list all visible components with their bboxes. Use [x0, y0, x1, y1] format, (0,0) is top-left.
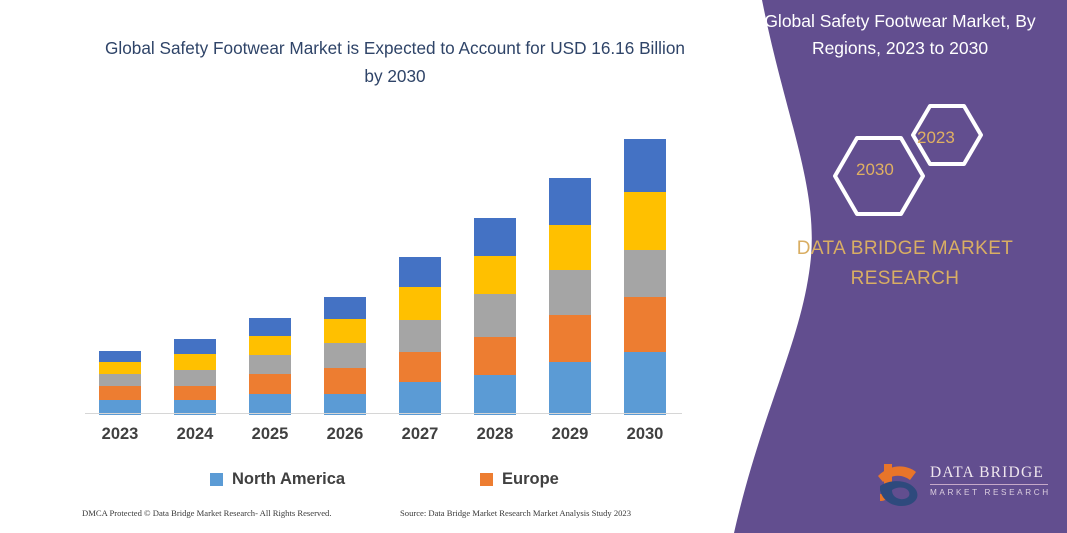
- x-axis-line: [85, 413, 682, 414]
- bar-segment: [474, 256, 516, 294]
- x-axis-label: 2028: [460, 425, 530, 444]
- stacked-bar: [99, 351, 141, 415]
- bar-segment: [249, 394, 291, 415]
- bar-segment: [549, 315, 591, 362]
- bar-column: [460, 112, 530, 415]
- logo-divider: [930, 484, 1048, 485]
- bar-segment: [474, 218, 516, 256]
- bar-segment: [174, 354, 216, 370]
- chart-title: Global Safety Footwear Market is Expecte…: [100, 34, 690, 90]
- hexagon-outlines-icon: [820, 100, 1020, 220]
- bar-column: [160, 112, 230, 415]
- bar-segment: [624, 192, 666, 250]
- x-axis-label: 2030: [610, 425, 680, 444]
- chart-plot-area: [85, 110, 685, 415]
- bar-segment: [249, 355, 291, 374]
- legend-item[interactable]: North America: [210, 470, 345, 489]
- bar-segment: [549, 178, 591, 225]
- bar-segment: [399, 352, 441, 382]
- bar-segment: [624, 250, 666, 297]
- bar-segment: [99, 374, 141, 386]
- bar-segment: [99, 351, 141, 362]
- bar-segment: [549, 270, 591, 315]
- bar-segment: [474, 337, 516, 375]
- stacked-bar: [174, 339, 216, 415]
- x-axis-labels: 20232024202520262027202820292030: [85, 425, 685, 449]
- bar-segment: [624, 139, 666, 192]
- data-bridge-logo: DATA BRIDGE MARKET RESEARCH: [872, 458, 1052, 514]
- x-axis-label: 2029: [535, 425, 605, 444]
- legend-label: Europe: [502, 470, 559, 489]
- bar-column: [85, 112, 155, 415]
- bar-segment: [399, 287, 441, 320]
- bar-column: [310, 112, 380, 415]
- logo-line-2: MARKET RESEARCH: [930, 488, 1051, 497]
- stacked-bar: [624, 139, 666, 415]
- bar-segment: [174, 339, 216, 354]
- bar-segment: [624, 297, 666, 352]
- infographic-root: Global Safety Footwear Market, By Region…: [0, 0, 1067, 533]
- legend-swatch: [480, 473, 493, 486]
- chart-legend: North AmericaEurope: [85, 470, 685, 494]
- bar-segment: [399, 320, 441, 352]
- bar-segment: [249, 336, 291, 355]
- hexagon-badges: 2030 2023: [820, 100, 1020, 220]
- brand-name: DATA BRIDGE MARKET RESEARCH: [775, 234, 1035, 294]
- legend-label: North America: [232, 470, 345, 489]
- legend-item[interactable]: Europe: [480, 470, 559, 489]
- bar-segment: [174, 386, 216, 400]
- panel-title: Global Safety Footwear Market, By Region…: [750, 8, 1050, 62]
- footer-source: Source: Data Bridge Market Research Mark…: [400, 508, 631, 518]
- stacked-bar: [249, 318, 291, 415]
- x-axis-label: 2023: [85, 425, 155, 444]
- legend-swatch: [210, 473, 223, 486]
- stacked-bar: [474, 218, 516, 415]
- bar-segment: [99, 362, 141, 374]
- hexagon-2023-label: 2023: [917, 128, 955, 148]
- x-axis-label: 2024: [160, 425, 230, 444]
- bar-segment: [99, 386, 141, 400]
- db-monogram-icon: [872, 458, 928, 510]
- bar-column: [610, 112, 680, 415]
- bar-segment: [174, 370, 216, 386]
- x-axis-label: 2026: [310, 425, 380, 444]
- bar-segment: [324, 319, 366, 343]
- stacked-bar: [399, 257, 441, 415]
- bar-column: [235, 112, 305, 415]
- bar-segment: [624, 352, 666, 415]
- bar-segment: [324, 394, 366, 415]
- stacked-bar: [324, 297, 366, 415]
- logo-line-1: DATA BRIDGE: [930, 464, 1051, 482]
- logo-wordmark: DATA BRIDGE MARKET RESEARCH: [930, 464, 1051, 497]
- bar-segment: [249, 318, 291, 336]
- x-axis-label: 2027: [385, 425, 455, 444]
- bar-column: [535, 112, 605, 415]
- stacked-bar: [549, 178, 591, 415]
- bar-segment: [549, 225, 591, 270]
- bar-segment: [324, 343, 366, 368]
- bar-segment: [474, 375, 516, 415]
- bar-segment: [474, 294, 516, 337]
- footer: DMCA Protected © Data Bridge Market Rese…: [82, 508, 692, 526]
- bar-column: [385, 112, 455, 415]
- bar-segment: [399, 382, 441, 415]
- bar-segment: [249, 374, 291, 394]
- bar-segment: [324, 368, 366, 394]
- hexagon-2030-label: 2030: [856, 160, 894, 180]
- bar-segment: [324, 297, 366, 319]
- footer-copyright: DMCA Protected © Data Bridge Market Rese…: [82, 508, 332, 518]
- bar-segment: [549, 362, 591, 415]
- bar-segment: [399, 257, 441, 287]
- x-axis-label: 2025: [235, 425, 305, 444]
